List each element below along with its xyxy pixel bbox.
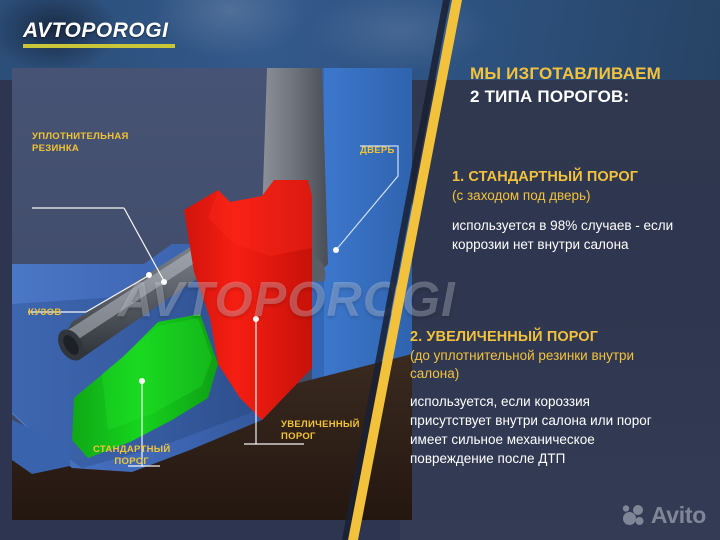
section-enlarged-sill: 2. УВЕЛИЧЕННЫЙ ПОРОГ (до уплотнительной … xyxy=(410,328,672,468)
brand-logo: AVTOPOROGI xyxy=(23,20,175,48)
section-standard-sill: 1. СТАНДАРТНЫЙ ПОРОГ (с заходом под двер… xyxy=(452,168,714,254)
section-1-title: 1. СТАНДАРТНЫЙ ПОРОГ xyxy=(452,168,714,187)
infographic-image: AVTOPOROGI УПЛОТНИТЕЛЬНАЯ РЕЗИНКА ДВЕРЬ … xyxy=(0,0,720,540)
panel-heading: МЫ ИЗГОТАВЛИВАЕМ 2 ТИПА ПОРОГОВ: xyxy=(470,62,710,108)
section-1-body: используется в 98% случаев - если корроз… xyxy=(452,216,714,254)
avito-dots-icon xyxy=(622,505,646,527)
section-1-subtitle: (с заходом под дверь) xyxy=(452,187,714,205)
logo-underline xyxy=(23,44,175,48)
section-2-body: используется, если короззия присутствует… xyxy=(410,392,672,468)
heading-line-2: 2 ТИПА ПОРОГОВ: xyxy=(470,85,710,108)
section-2-title: 2. УВЕЛИЧЕННЫЙ ПОРОГ xyxy=(410,328,672,347)
logo-text: AVTOPOROGI xyxy=(23,20,175,41)
avito-watermark: Avito xyxy=(622,504,706,527)
section-2-subtitle: (до уплотнительной резинки внутри салона… xyxy=(410,347,672,383)
heading-line-1: МЫ ИЗГОТАВЛИВАЕМ xyxy=(470,62,710,85)
avito-label: Avito xyxy=(651,504,706,527)
